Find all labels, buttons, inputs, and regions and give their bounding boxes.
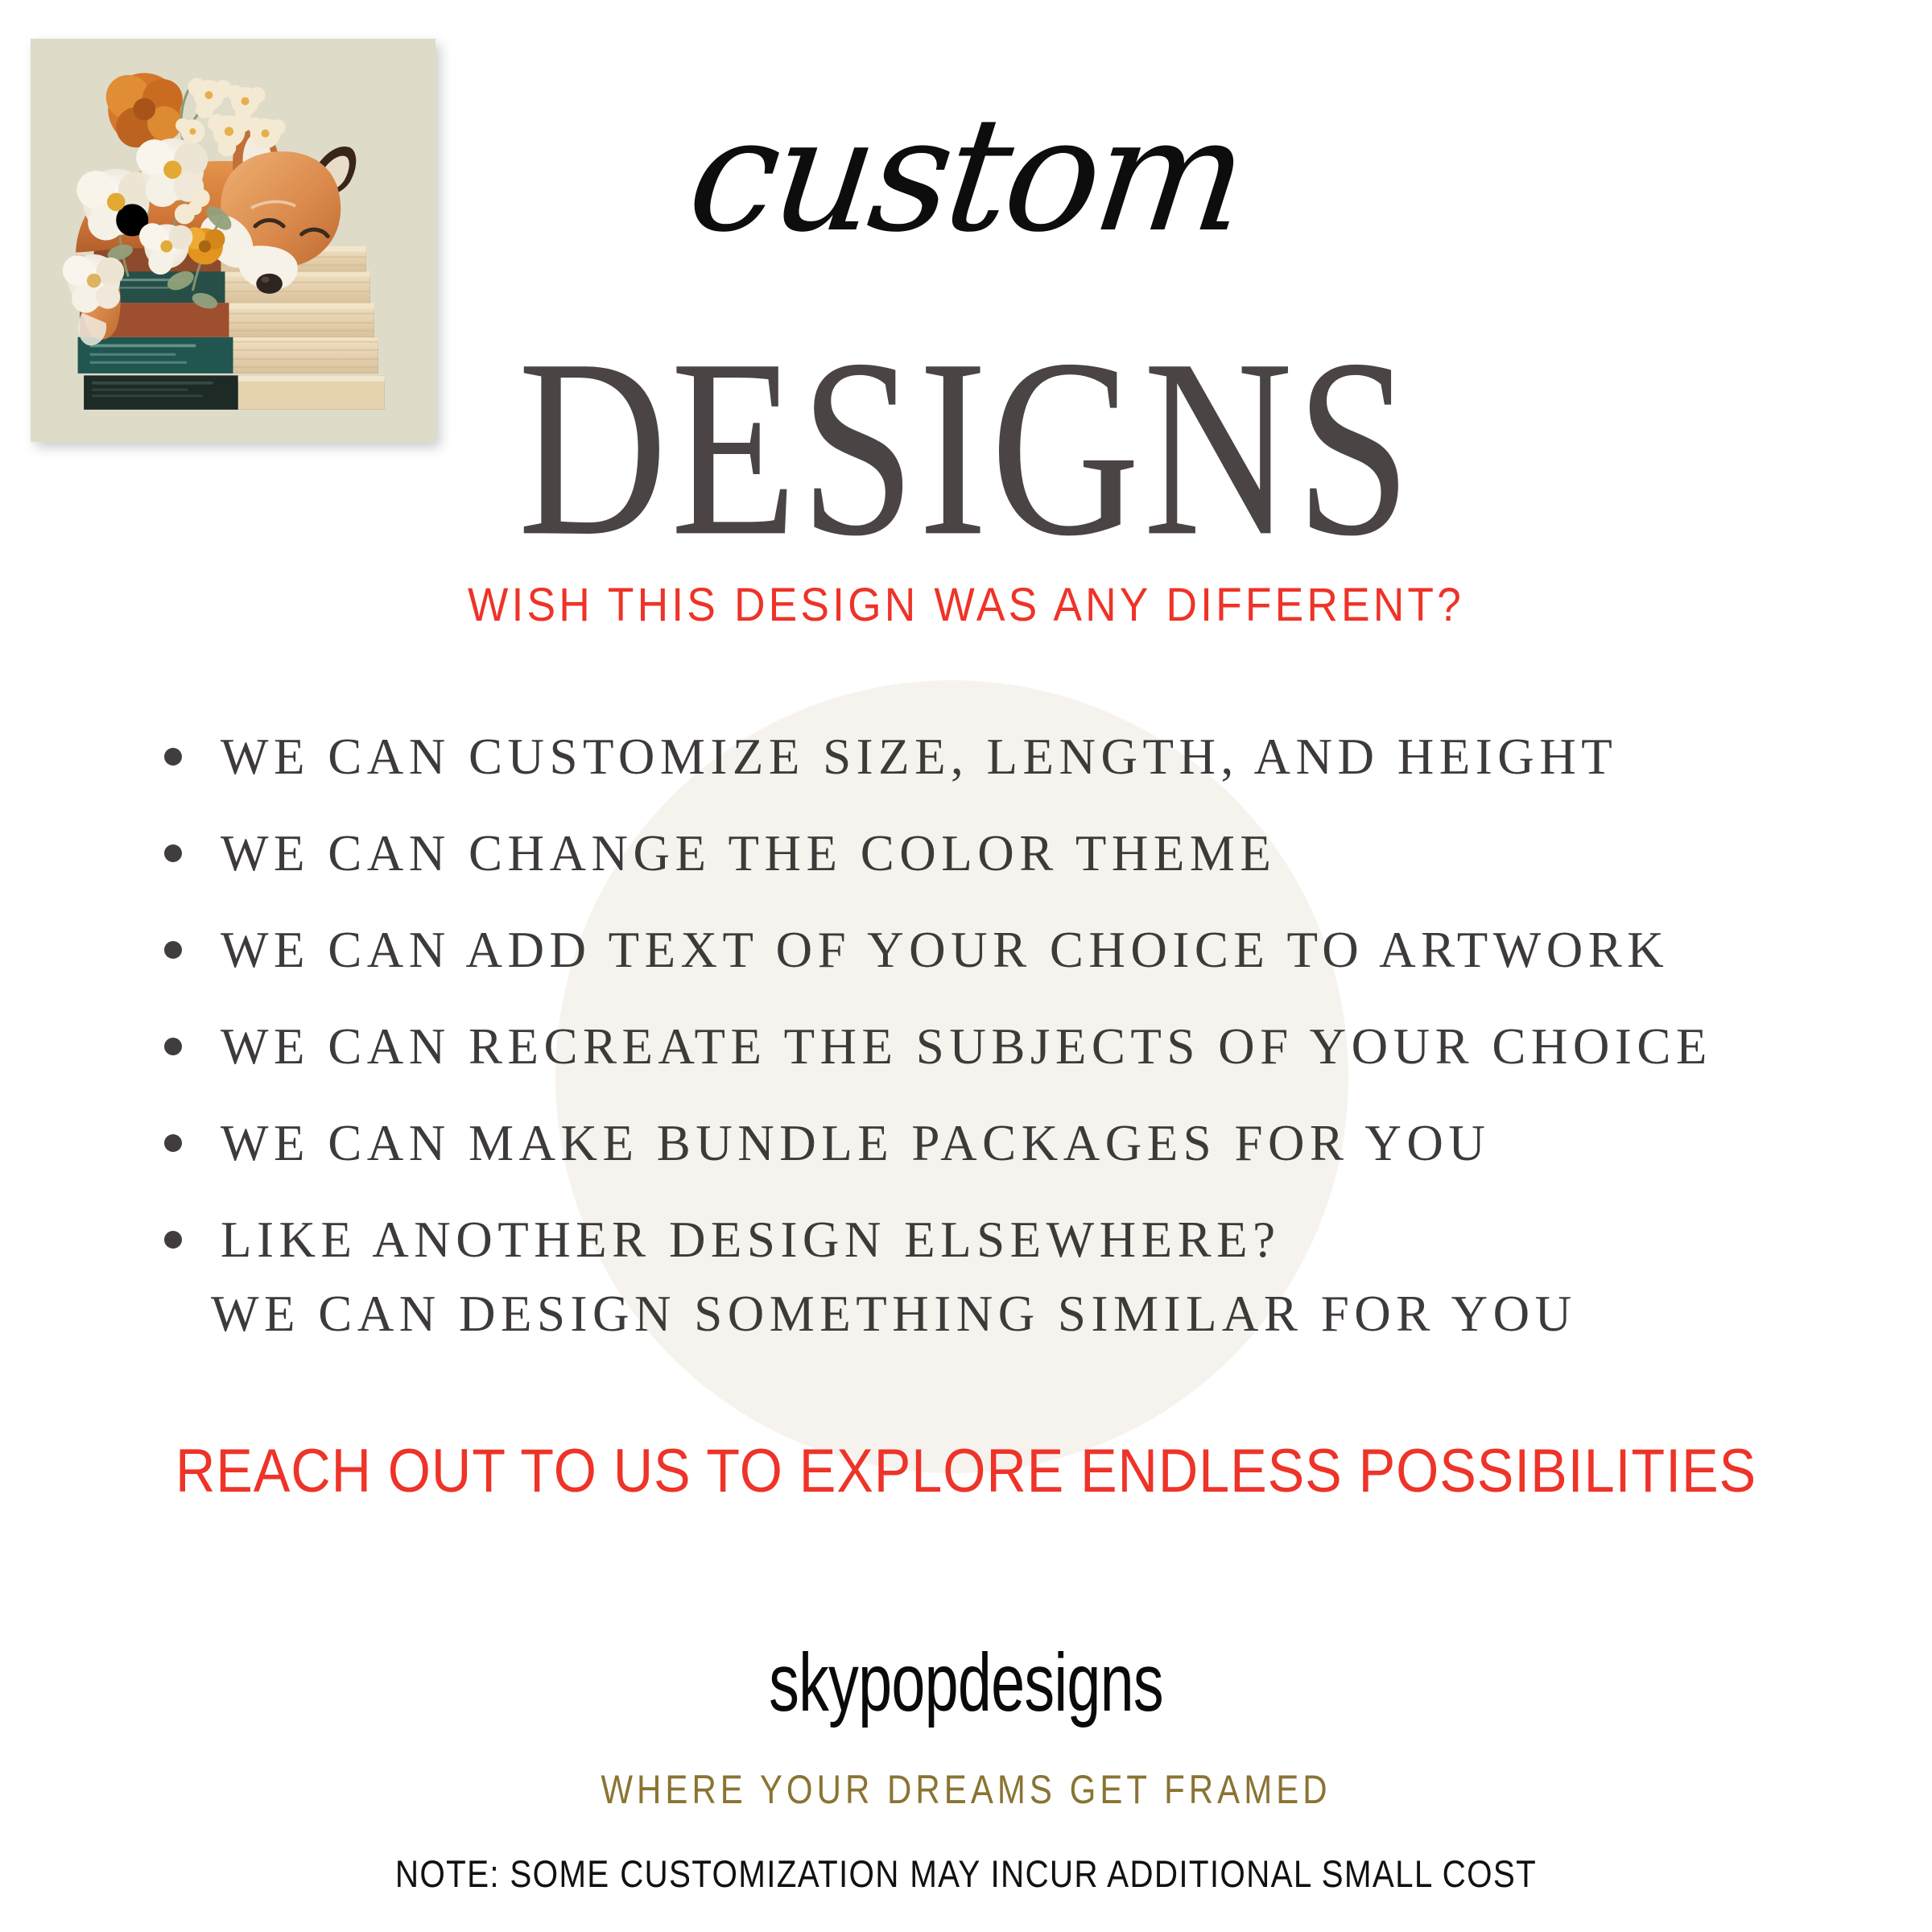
list-item: WE CAN CUSTOMIZE SIZE, LENGTH, AND HEIGH…	[158, 708, 1816, 805]
call-to-action-text: REACH OUT TO US TO EXPLORE ENDLESS POSSI…	[97, 1436, 1835, 1506]
list-item-label: WE CAN RECREATE THE SUBJECTS OF YOUR CHO…	[221, 1018, 1712, 1076]
product-thumbnail[interactable]	[31, 39, 436, 442]
bullet-dot-icon	[164, 941, 182, 959]
list-item: WE CAN RECREATE THE SUBJECTS OF YOUR CHO…	[158, 998, 1816, 1095]
list-item-label: WE CAN ADD TEXT OF YOUR CHOICE TO ARTWOR…	[221, 921, 1669, 980]
fox-books-illustration	[31, 39, 436, 442]
list-item-label: WE CAN CHANGE THE COLOR THEME	[221, 824, 1276, 883]
bullet-dot-icon	[164, 1231, 182, 1249]
list-item-label: LIKE ANOTHER DESIGN ELSEWHERE?	[221, 1211, 1281, 1269]
feature-list: WE CAN CUSTOMIZE SIZE, LENGTH, AND HEIGH…	[158, 708, 1816, 1288]
list-item: LIKE ANOTHER DESIGN ELSEWHERE?	[158, 1191, 1816, 1288]
list-item-continuation-label: WE CAN DESIGN SOMETHING SIMILAR FOR YOU	[211, 1285, 1577, 1344]
bullet-dot-icon	[164, 748, 182, 766]
list-item-label: WE CAN MAKE BUNDLE PACKAGES FOR YOU	[221, 1114, 1490, 1173]
list-item: WE CAN CHANGE THE COLOR THEME	[158, 805, 1816, 902]
list-item: WE CAN MAKE BUNDLE PACKAGES FOR YOU	[158, 1095, 1816, 1191]
list-item-label: WE CAN CUSTOMIZE SIZE, LENGTH, AND HEIGH…	[221, 728, 1617, 786]
bullet-dot-icon	[164, 1038, 182, 1055]
subheading-question: WISH THIS DESIGN WAS ANY DIFFERENT?	[77, 578, 1855, 632]
bullet-dot-icon	[164, 1134, 182, 1152]
bullet-dot-icon	[164, 844, 182, 862]
brand-logo: skypopdesigns	[251, 1636, 1681, 1730]
footer-note: NOTE: SOME CUSTOMIZATION MAY INCUR ADDIT…	[135, 1851, 1797, 1896]
brand-tagline: WHERE YOUR DREAMS GET FRAMED	[155, 1766, 1777, 1813]
list-item: WE CAN ADD TEXT OF YOUR CHOICE TO ARTWOR…	[158, 902, 1816, 998]
